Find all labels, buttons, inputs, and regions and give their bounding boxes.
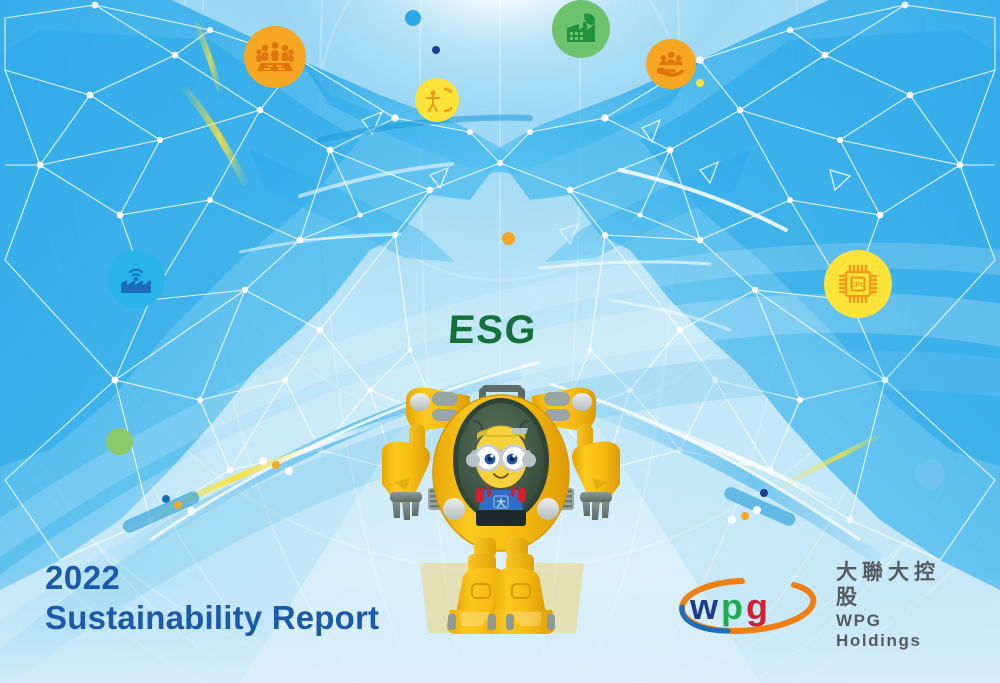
cpu-label: CPU (851, 282, 866, 289)
report-cover: ESG (0, 0, 1000, 683)
dot-white-r1 (728, 516, 736, 524)
right-claw (580, 492, 612, 520)
report-title: Sustainability Report (45, 600, 379, 637)
dot-white-mid (259, 457, 267, 465)
dot-white-mid2 (285, 467, 293, 475)
robot-legs (447, 554, 555, 634)
dot-navy-right (760, 489, 768, 497)
dot-navy-top (432, 46, 440, 54)
wpg-letter-w: w (689, 586, 719, 627)
report-year: 2022 (45, 560, 379, 597)
pilot-badge-char: 大 (496, 497, 505, 509)
microchip-icon: CPU (824, 250, 892, 318)
dot-orange-mid2 (272, 461, 280, 469)
dot-navy-left (162, 495, 170, 503)
wpg-logo-mark: w p g (676, 573, 828, 639)
dot-yellow-sm (696, 79, 704, 87)
dot-orange-mid (502, 232, 515, 245)
dot-blue-top (405, 10, 421, 26)
floating-triangles (362, 112, 850, 244)
mecha-robot: 大 (370, 378, 632, 638)
dot-white-r2 (753, 506, 761, 514)
esg-text: ESG (448, 308, 539, 352)
wpg-name-en: WPG Holdings (836, 611, 948, 652)
wpg-letter-g: g (746, 586, 768, 627)
cover-title: 2022 Sustainability Report (45, 560, 379, 637)
green-factory-icon (552, 0, 610, 58)
dot-blue-right (915, 459, 945, 489)
dot-white-left (187, 507, 195, 515)
meeting-icon (244, 26, 306, 88)
dot-orange-left (174, 501, 182, 509)
smart-factory-icon (107, 250, 165, 308)
person-growth-icon (415, 78, 459, 122)
left-claw (390, 492, 422, 520)
wpg-letter-p: p (721, 586, 743, 627)
wpg-name-cn: 大聯大控股 (836, 560, 948, 610)
dot-green-left (106, 428, 133, 455)
social-care-icon (646, 39, 696, 89)
wpg-logo-text: 大聯大控股 WPG Holdings (836, 560, 948, 651)
wpg-logo: w p g 大聯大控股 WPG Holdings (676, 573, 948, 639)
dot-orange-r (741, 512, 749, 520)
esg-wordmark: ESG (448, 305, 558, 353)
